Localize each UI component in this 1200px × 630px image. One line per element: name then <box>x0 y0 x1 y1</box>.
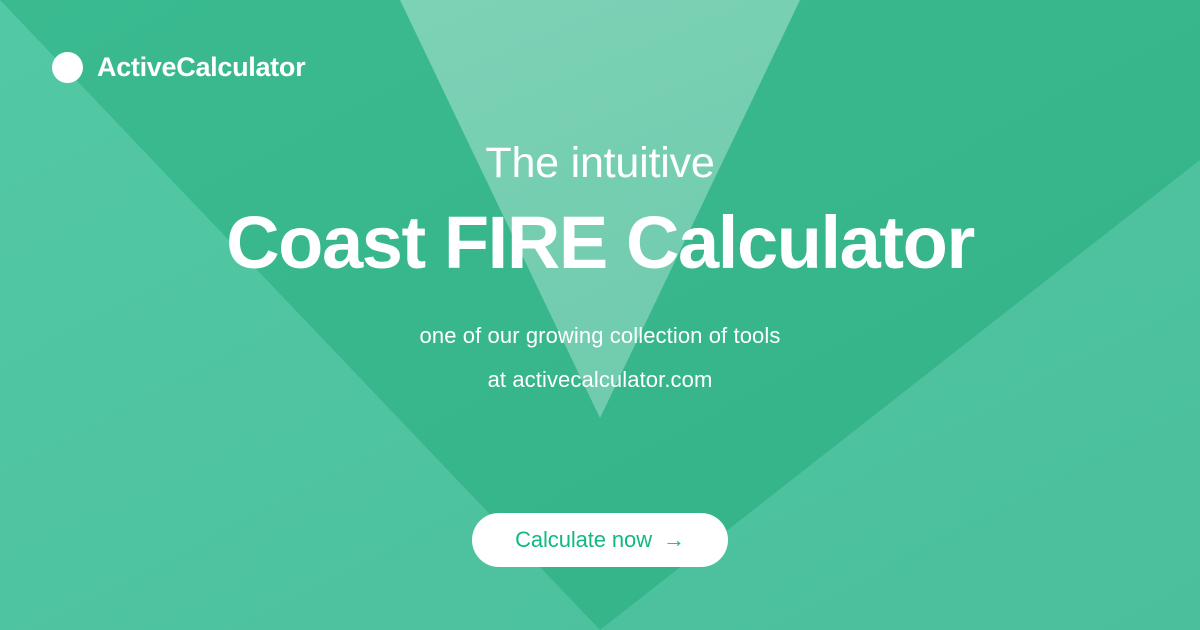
arrow-right-icon: → <box>663 529 685 551</box>
promo-banner: ActiveCalculator The intuitive Coast FIR… <box>0 0 1200 630</box>
calculate-now-label: Calculate now <box>515 529 652 551</box>
calculate-now-button[interactable]: Calculate now → <box>472 513 728 567</box>
brand-logo[interactable]: ActiveCalculator <box>52 52 305 83</box>
circle-logo-icon <box>52 52 83 83</box>
brand-name: ActiveCalculator <box>97 54 305 81</box>
